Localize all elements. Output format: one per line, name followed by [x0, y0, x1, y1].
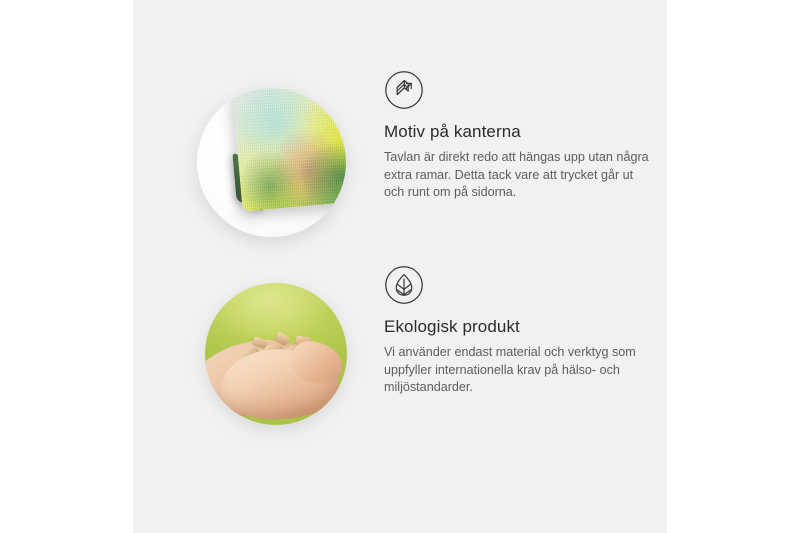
feature-block-eco: Ekologisk produkt Vi använder endast mat…: [133, 265, 667, 445]
leaf-icon: [384, 265, 424, 305]
feature-title: Ekologisk produkt: [384, 317, 666, 337]
canvas-wrapped-edges-icon: [384, 70, 424, 110]
feature-description: Vi använder endast material och verktyg …: [384, 344, 652, 397]
canvas-print-on-white-disc-photo: [197, 88, 346, 237]
photo-background-blur: [205, 283, 347, 335]
product-feature-banner: Motiv på kanterna Tavlan är direkt redo …: [0, 0, 800, 533]
feature-text-edges: Motiv på kanterna Tavlan är direkt redo …: [384, 70, 666, 202]
feature-block-edges: Motiv på kanterna Tavlan är direkt redo …: [133, 70, 667, 260]
hands-holding-wood-chips-photo: [205, 283, 347, 425]
feature-description: Tavlan är direkt redo att hängas upp uta…: [384, 149, 652, 202]
feature-title: Motiv på kanterna: [384, 122, 666, 142]
canvas-print-face: [232, 88, 346, 212]
feature-text-eco: Ekologisk produkt Vi använder endast mat…: [384, 265, 666, 397]
